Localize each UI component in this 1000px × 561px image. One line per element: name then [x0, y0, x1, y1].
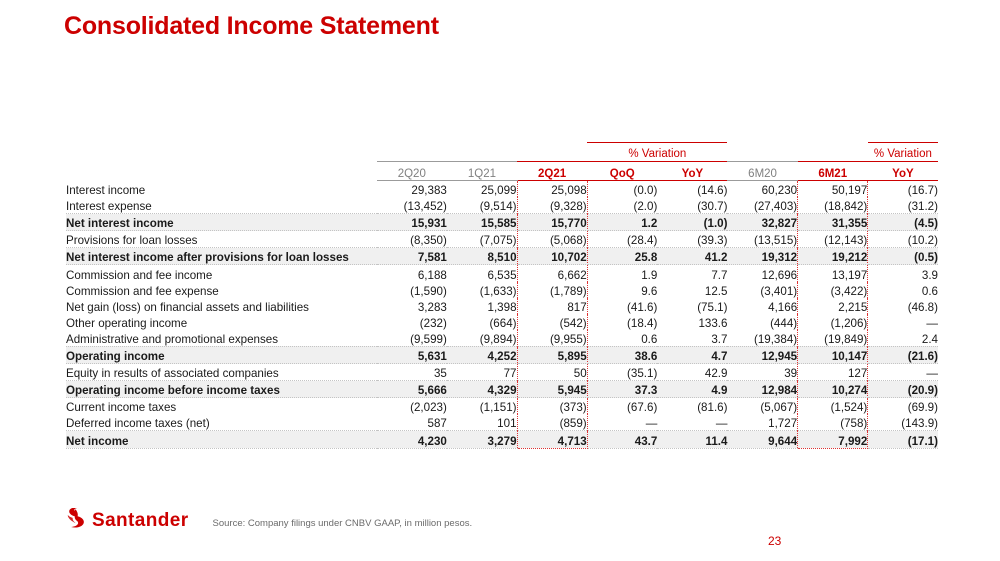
cell-6m20: 1,727: [727, 414, 797, 431]
page-number: 23: [768, 534, 781, 548]
group-header-blank-2q20: [377, 143, 447, 162]
cell-2q21: (542): [517, 314, 587, 330]
row-label: Current income taxes: [66, 398, 377, 415]
cell-yoy: (10.2): [868, 231, 938, 248]
cell-2q20: (232): [377, 314, 447, 330]
row-label: Equity in results of associated companie…: [66, 364, 377, 381]
cell-1q21: 4,329: [447, 381, 517, 398]
cell-1q21: (9,894): [447, 330, 517, 347]
cell-1q21: 15,585: [447, 214, 517, 231]
cell-6m21: 13,197: [798, 265, 868, 282]
cell-yoy: —: [657, 414, 727, 431]
cell-6m21: (1,206): [798, 314, 868, 330]
cell-yoy: 3.9: [868, 265, 938, 282]
column-header-2q20[interactable]: 2Q20: [377, 162, 447, 181]
cell-6m21: 31,355: [798, 214, 868, 231]
cell-qoq: 25.8: [587, 248, 657, 265]
group-header-blank: [66, 143, 377, 162]
cell-yoy: (143.9): [868, 414, 938, 431]
cell-qoq: (0.0): [587, 181, 657, 198]
cell-6m20: 12,984: [727, 381, 797, 398]
cell-yoy: 7.7: [657, 265, 727, 282]
group-header-variation-quarterly: % Variation: [587, 143, 727, 162]
column-header-yoy-semiannual[interactable]: YoY: [868, 162, 938, 181]
cell-yoy: —: [868, 364, 938, 381]
cell-6m20: 39: [727, 364, 797, 381]
row-label: Operating income before income taxes: [66, 381, 377, 398]
cell-6m21: (1,524): [798, 398, 868, 415]
table-row: Commission and fee income6,1886,5356,662…: [66, 265, 938, 282]
table-row: Interest expense(13,452)(9,514)(9,328)(2…: [66, 197, 938, 214]
table-row: Current income taxes(2,023)(1,151)(373)(…: [66, 398, 938, 415]
cell-2q21: 6,662: [517, 265, 587, 282]
cell-6m21: (18,842): [798, 197, 868, 214]
cell-6m20: (27,403): [727, 197, 797, 214]
cell-yoy: 4.7: [657, 346, 727, 363]
table-column-header-row: 2Q20 1Q21 2Q21 QoQ YoY 6M20 6M21 YoY: [66, 162, 938, 181]
flame-icon: [64, 508, 86, 533]
cell-2q21: 5,895: [517, 346, 587, 363]
cell-qoq: 43.7: [587, 431, 657, 448]
cell-2q20: 3,283: [377, 298, 447, 314]
table-row: Net gain (loss) on financial assets and …: [66, 298, 938, 314]
cell-yoy: (46.8): [868, 298, 938, 314]
table-row: Net income4,2303,2794,71343.711.49,6447,…: [66, 431, 938, 448]
row-label: Other operating income: [66, 314, 377, 330]
cell-1q21: (7,075): [447, 231, 517, 248]
cell-2q21: (1,789): [517, 282, 587, 298]
cell-2q20: 6,188: [377, 265, 447, 282]
cell-6m21: 7,992: [798, 431, 868, 448]
cell-yoy: (30.7): [657, 197, 727, 214]
cell-yoy: (17.1): [868, 431, 938, 448]
table-row: Equity in results of associated companie…: [66, 364, 938, 381]
cell-yoy: 4.9: [657, 381, 727, 398]
income-statement-table-container: % Variation % Variation 2Q20 1Q21 2Q21 Q…: [66, 142, 938, 449]
income-statement-table: % Variation % Variation 2Q20 1Q21 2Q21 Q…: [66, 142, 938, 449]
cell-6m20: 9,644: [727, 431, 797, 448]
cell-2q21: 10,702: [517, 248, 587, 265]
cell-6m21: 10,147: [798, 346, 868, 363]
cell-1q21: (664): [447, 314, 517, 330]
column-header-6m21[interactable]: 6M21: [798, 162, 868, 181]
row-label: Deferred income taxes (net): [66, 414, 377, 431]
cell-yoy: 2.4: [868, 330, 938, 347]
table-row: Interest income29,38325,09925,098(0.0)(1…: [66, 181, 938, 198]
cell-6m20: 60,230: [727, 181, 797, 198]
cell-2q21: (9,328): [517, 197, 587, 214]
row-label: Administrative and promotional expenses: [66, 330, 377, 347]
table-row: Net interest income15,93115,58515,7701.2…: [66, 214, 938, 231]
table-header: % Variation % Variation 2Q20 1Q21 2Q21 Q…: [66, 143, 938, 181]
cell-qoq: (2.0): [587, 197, 657, 214]
table-row: Commission and fee expense(1,590)(1,633)…: [66, 282, 938, 298]
cell-6m20: 12,945: [727, 346, 797, 363]
column-header-qoq[interactable]: QoQ: [587, 162, 657, 181]
cell-1q21: 3,279: [447, 431, 517, 448]
cell-yoy: (21.6): [868, 346, 938, 363]
cell-6m21: 10,274: [798, 381, 868, 398]
row-label: Provisions for loan losses: [66, 231, 377, 248]
table-group-header-row: % Variation % Variation: [66, 143, 938, 162]
cell-6m21: (3,422): [798, 282, 868, 298]
column-header-6m20[interactable]: 6M20: [727, 162, 797, 181]
cell-2q20: (2,023): [377, 398, 447, 415]
cell-2q20: 4,230: [377, 431, 447, 448]
cell-2q20: 5,631: [377, 346, 447, 363]
cell-2q20: (13,452): [377, 197, 447, 214]
cell-2q20: 5,666: [377, 381, 447, 398]
cell-yoy: 0.6: [868, 282, 938, 298]
group-header-blank-6m20: [727, 143, 797, 162]
table-row: Administrative and promotional expenses(…: [66, 330, 938, 347]
row-label: Commission and fee expense: [66, 282, 377, 298]
cell-qoq: 9.6: [587, 282, 657, 298]
cell-1q21: 101: [447, 414, 517, 431]
group-header-blank-2q21: [517, 143, 587, 162]
cell-2q21: 15,770: [517, 214, 587, 231]
cell-2q21: 50: [517, 364, 587, 381]
cell-qoq: —: [587, 414, 657, 431]
cell-6m20: (3,401): [727, 282, 797, 298]
cell-2q20: 15,931: [377, 214, 447, 231]
cell-6m20: 19,312: [727, 248, 797, 265]
cell-6m20: (13,515): [727, 231, 797, 248]
cell-yoy: (14.6): [657, 181, 727, 198]
cell-yoy: 3.7: [657, 330, 727, 347]
cell-qoq: (28.4): [587, 231, 657, 248]
cell-2q21: (859): [517, 414, 587, 431]
cell-6m21: 127: [798, 364, 868, 381]
cell-2q20: 7,581: [377, 248, 447, 265]
cell-yoy: (0.5): [868, 248, 938, 265]
cell-2q21: 4,713: [517, 431, 587, 448]
cell-yoy: —: [868, 314, 938, 330]
cell-6m21: (12,143): [798, 231, 868, 248]
cell-yoy: (39.3): [657, 231, 727, 248]
cell-qoq: (67.6): [587, 398, 657, 415]
cell-6m20: (444): [727, 314, 797, 330]
table-row: Deferred income taxes (net)587101(859)——…: [66, 414, 938, 431]
cell-6m20: (5,067): [727, 398, 797, 415]
cell-6m20: (19,384): [727, 330, 797, 347]
row-label: Operating income: [66, 346, 377, 363]
row-label: Interest expense: [66, 197, 377, 214]
cell-qoq: (18.4): [587, 314, 657, 330]
cell-6m21: 2,215: [798, 298, 868, 314]
cell-1q21: 77: [447, 364, 517, 381]
cell-2q20: 35: [377, 364, 447, 381]
cell-2q20: 29,383: [377, 181, 447, 198]
row-label: Commission and fee income: [66, 265, 377, 282]
column-header-label: [66, 162, 377, 181]
cell-6m21: 19,212: [798, 248, 868, 265]
cell-1q21: 6,535: [447, 265, 517, 282]
cell-1q21: (9,514): [447, 197, 517, 214]
cell-qoq: (41.6): [587, 298, 657, 314]
cell-yoy: 133.6: [657, 314, 727, 330]
table-row: Provisions for loan losses(8,350)(7,075)…: [66, 231, 938, 248]
cell-1q21: 1,398: [447, 298, 517, 314]
cell-yoy: 11.4: [657, 431, 727, 448]
cell-1q21: 4,252: [447, 346, 517, 363]
cell-2q20: (9,599): [377, 330, 447, 347]
cell-yoy: (20.9): [868, 381, 938, 398]
cell-2q21: (9,955): [517, 330, 587, 347]
cell-6m20: 12,696: [727, 265, 797, 282]
cell-qoq: (35.1): [587, 364, 657, 381]
cell-1q21: (1,633): [447, 282, 517, 298]
group-header-variation-semiannual: % Variation: [868, 143, 938, 162]
source-note: Source: Company filings under CNBV GAAP,…: [213, 513, 473, 529]
column-header-1q21[interactable]: 1Q21: [447, 162, 517, 181]
cell-2q21: 817: [517, 298, 587, 314]
cell-yoy: (81.6): [657, 398, 727, 415]
cell-qoq: 38.6: [587, 346, 657, 363]
cell-qoq: 37.3: [587, 381, 657, 398]
cell-yoy: (31.2): [868, 197, 938, 214]
santander-logo: Santander: [64, 508, 189, 533]
cell-qoq: 0.6: [587, 330, 657, 347]
row-label: Net gain (loss) on financial assets and …: [66, 298, 377, 314]
row-label: Net income: [66, 431, 377, 448]
table-row: Other operating income(232)(664)(542)(18…: [66, 314, 938, 330]
table-row: Operating income before income taxes5,66…: [66, 381, 938, 398]
cell-qoq: 1.2: [587, 214, 657, 231]
cell-yoy: (4.5): [868, 214, 938, 231]
cell-6m20: 4,166: [727, 298, 797, 314]
cell-2q21: 5,945: [517, 381, 587, 398]
cell-1q21: (1,151): [447, 398, 517, 415]
column-header-yoy-quarterly[interactable]: YoY: [657, 162, 727, 181]
cell-2q21: 25,098: [517, 181, 587, 198]
cell-2q20: (8,350): [377, 231, 447, 248]
cell-1q21: 8,510: [447, 248, 517, 265]
cell-yoy: 41.2: [657, 248, 727, 265]
table-row: Net interest income after provisions for…: [66, 248, 938, 265]
cell-6m21: (19,849): [798, 330, 868, 347]
group-header-blank-6m21: [798, 143, 868, 162]
cell-1q21: 25,099: [447, 181, 517, 198]
cell-6m21: (758): [798, 414, 868, 431]
cell-6m20: 32,827: [727, 214, 797, 231]
column-header-2q21[interactable]: 2Q21: [517, 162, 587, 181]
cell-2q20: 587: [377, 414, 447, 431]
row-label: Interest income: [66, 181, 377, 198]
cell-yoy: 42.9: [657, 364, 727, 381]
row-label: Net interest income after provisions for…: [66, 248, 377, 265]
cell-6m21: 50,197: [798, 181, 868, 198]
cell-2q21: (5,068): [517, 231, 587, 248]
group-header-blank-1q21: [447, 143, 517, 162]
table-body: Interest income29,38325,09925,098(0.0)(1…: [66, 181, 938, 449]
footer: Santander Source: Company filings under …: [64, 508, 472, 533]
cell-qoq: 1.9: [587, 265, 657, 282]
cell-yoy: (69.9): [868, 398, 938, 415]
cell-yoy: (1.0): [657, 214, 727, 231]
cell-2q20: (1,590): [377, 282, 447, 298]
cell-yoy: (16.7): [868, 181, 938, 198]
cell-yoy: (75.1): [657, 298, 727, 314]
row-label: Net interest income: [66, 214, 377, 231]
logo-wordmark: Santander: [92, 511, 189, 530]
cell-yoy: 12.5: [657, 282, 727, 298]
page-title: Consolidated Income Statement: [64, 12, 439, 41]
cell-2q21: (373): [517, 398, 587, 415]
table-row: Operating income5,6314,2525,89538.64.712…: [66, 346, 938, 363]
